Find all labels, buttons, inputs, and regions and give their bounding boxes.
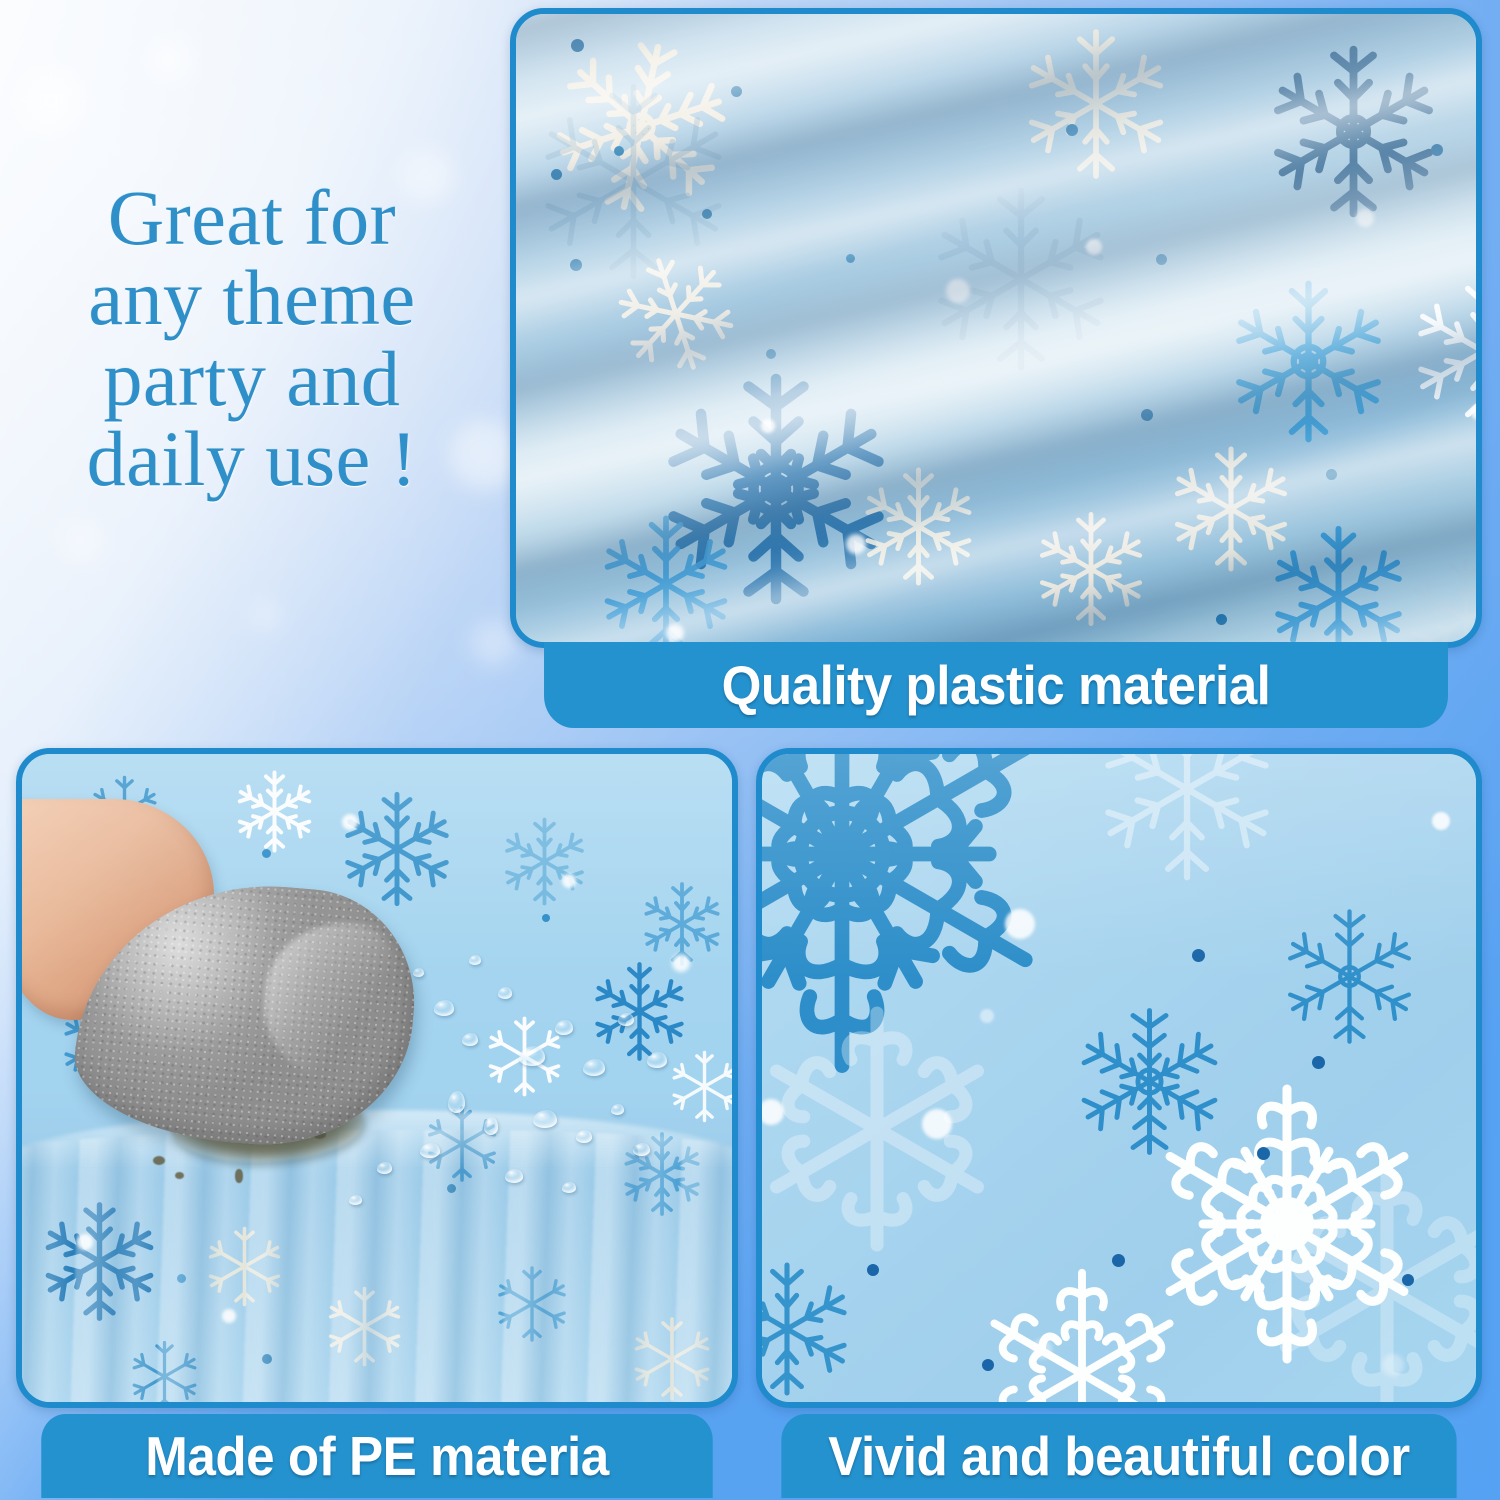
water-drop-icon [420, 1143, 440, 1158]
dot-accent [982, 1359, 994, 1371]
water-drop-icon [413, 968, 424, 977]
panel-vivid-and-beautiful-color [756, 748, 1482, 1408]
panel-quality-plastic-material [510, 8, 1482, 648]
water-drop-icon [562, 1182, 576, 1193]
glitter-highlight [922, 1109, 952, 1139]
water-drop-icon [434, 1000, 454, 1016]
caption-text: Quality plastic material [722, 653, 1271, 717]
snowflake-icon [967, 1259, 1197, 1402]
dot-accent [867, 1264, 879, 1276]
caption-text: Made of PE materia [145, 1424, 609, 1488]
caption-quality-plastic-material: Quality plastic material [544, 642, 1448, 728]
headline-line-3: party and [32, 339, 472, 419]
water-drop-icon [498, 987, 512, 999]
water-drop-icon [377, 1162, 392, 1174]
snowflake-icon [762, 984, 1022, 1274]
spill-droplet [235, 1169, 243, 1183]
photo-color-closeup [762, 754, 1476, 1402]
caption-made-of-pe-material: Made of PE materia [41, 1414, 712, 1498]
snowflake-icon [1082, 754, 1292, 894]
water-drop-icon [505, 1169, 523, 1183]
dot-accent [1402, 1274, 1414, 1286]
headline-line-2: any theme [32, 258, 472, 338]
water-drop-icon [633, 1143, 650, 1156]
glitter-highlight [1432, 812, 1450, 830]
water-drop-icon [469, 955, 481, 965]
snowflake-icon [227, 764, 322, 859]
water-drop-icon [484, 1117, 498, 1135]
water-drop-icon [519, 1046, 545, 1066]
caption-text: Vivid and beautiful color [828, 1424, 1409, 1488]
dot-accent [262, 849, 271, 858]
water-drop-icon [349, 1195, 362, 1205]
water-drop-icon [647, 1052, 667, 1068]
photo-plastic-material [516, 14, 1476, 642]
dot-accent [1257, 1147, 1270, 1160]
glitter-highlight [672, 954, 690, 972]
glitter-highlight [342, 814, 358, 830]
spill-droplet [175, 1172, 184, 1179]
water-drop-icon [611, 1104, 624, 1115]
glitter-highlight [562, 874, 576, 888]
dot-accent [1312, 1056, 1325, 1069]
glitter-highlight [980, 1009, 994, 1023]
headline-line-4: daily use ! [32, 419, 472, 499]
snowflake-icon [492, 809, 597, 914]
dot-accent [542, 914, 550, 922]
water-drop-icon [462, 1033, 478, 1046]
dot-accent [1192, 949, 1205, 962]
spill-droplet [153, 1156, 165, 1165]
panel-made-of-pe-material [16, 748, 738, 1408]
glitter-highlight [1005, 909, 1035, 939]
water-drop-icon [583, 1059, 605, 1076]
headline-text: Great for any theme party and daily use … [32, 178, 472, 499]
snowflake-icon [332, 784, 462, 914]
plastic-sheen [516, 14, 1476, 642]
water-drop-icon [576, 1130, 592, 1143]
photo-wipe-demo [22, 754, 732, 1402]
water-drop-icon [533, 1110, 557, 1128]
caption-vivid-and-beautiful-color: Vivid and beautiful color [781, 1414, 1456, 1498]
snowflake-icon [662, 1044, 732, 1129]
glitter-highlight [1032, 1339, 1052, 1359]
water-drop-icon [555, 1020, 573, 1035]
headline-line-1: Great for [32, 178, 472, 258]
snowflake-icon [1272, 899, 1427, 1054]
snowflake-icon [1242, 1144, 1476, 1402]
water-drop-icon [448, 1091, 465, 1113]
glitter-highlight [1382, 1354, 1404, 1376]
dot-accent [1112, 1254, 1125, 1267]
